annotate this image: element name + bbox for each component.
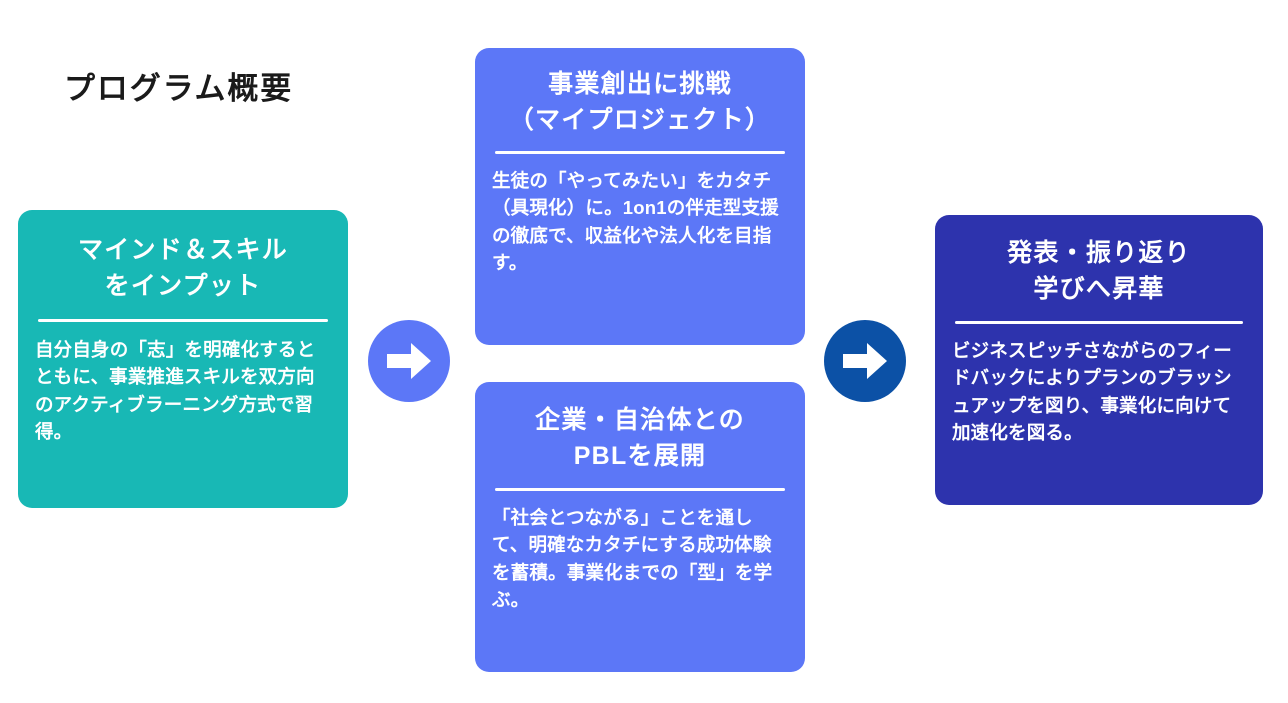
card-business-creation-heading-line1: 事業創出に挑戦	[489, 67, 791, 103]
arrow-connector-one	[368, 320, 450, 402]
card-pbl-heading-line1: 企業・自治体との	[489, 403, 791, 439]
card-presentation-body: ビジネスピッチさながらのフィードバックによりプランのブラッシュアップを図り、事業…	[952, 337, 1246, 447]
card-mind-skill: マインド＆スキル をインプット 自分自身の「志」を明確化するとともに、事業推進ス…	[18, 210, 348, 508]
card-pbl-body: 「社会とつながる」ことを通して、明確なカタチにする成功体験を蓄積。事業化までの「…	[492, 504, 788, 614]
card-mind-skill-heading-line2: をインプット	[36, 269, 330, 305]
arrow-right-icon	[385, 341, 433, 381]
card-pbl: 企業・自治体との PBLを展開 「社会とつながる」ことを通して、明確なカタチにす…	[475, 382, 805, 672]
card-mind-skill-divider	[38, 319, 328, 322]
card-business-creation-heading: 事業創出に挑戦 （マイプロジェクト）	[489, 67, 791, 138]
card-presentation-heading-line2: 学びへ昇華	[951, 272, 1247, 308]
card-business-creation-heading-line2: （マイプロジェクト）	[489, 103, 791, 139]
card-pbl-divider	[495, 488, 785, 491]
card-business-creation-body: 生徒の「やってみたい」をカタチ（具現化）に。1on1の伴走型支援の徹底で、収益化…	[492, 167, 788, 277]
card-presentation-divider	[955, 321, 1243, 324]
card-mind-skill-heading-line1: マインド＆スキル	[36, 233, 330, 269]
card-pbl-heading-line2: PBLを展開	[489, 439, 791, 475]
arrow-right-icon	[841, 341, 889, 381]
card-presentation-heading: 発表・振り返り 学びへ昇華	[951, 236, 1247, 307]
card-pbl-heading: 企業・自治体との PBLを展開	[489, 403, 791, 474]
card-mind-skill-heading: マインド＆スキル をインプット	[36, 233, 330, 304]
page-title: プログラム概要	[64, 63, 293, 108]
card-mind-skill-body: 自分自身の「志」を明確化するとともに、事業推進スキルを双方向のアクティブラーニン…	[35, 336, 331, 446]
card-business-creation-divider	[495, 151, 785, 154]
card-business-creation: 事業創出に挑戦 （マイプロジェクト） 生徒の「やってみたい」をカタチ（具現化）に…	[475, 48, 805, 345]
diagram-canvas: プログラム概要 マインド＆スキル をインプット 自分自身の「志」を明確化するとと…	[0, 0, 1288, 703]
arrow-connector-two	[824, 320, 906, 402]
card-presentation-heading-line1: 発表・振り返り	[951, 236, 1247, 272]
card-presentation: 発表・振り返り 学びへ昇華 ビジネスピッチさながらのフィードバックによりプランの…	[935, 215, 1263, 505]
